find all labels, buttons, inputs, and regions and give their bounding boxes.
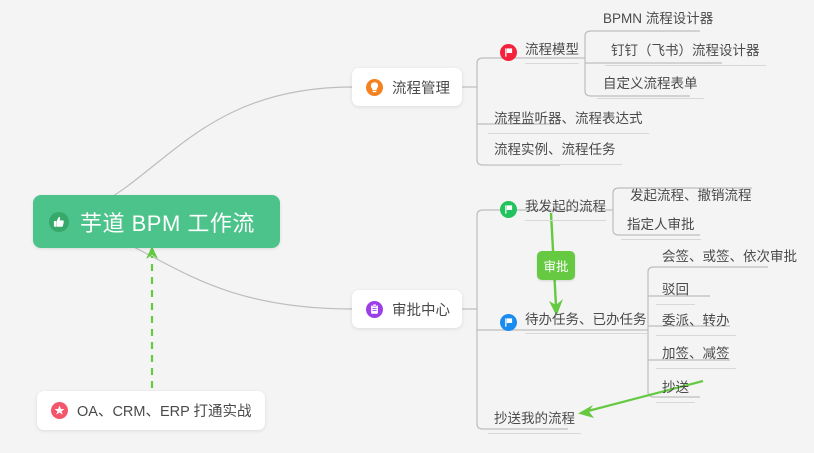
lightbulb-icon: [366, 79, 383, 96]
leaf-label: 流程模型: [525, 41, 579, 64]
leaf-process-model[interactable]: 流程模型: [494, 41, 585, 71]
leaf-label: 我发起的流程: [525, 198, 606, 221]
leaf-cc-to-me[interactable]: 抄送我的流程: [488, 410, 581, 434]
leaf-todo-done-tasks[interactable]: 待办任务、已办任务: [494, 311, 653, 341]
leaf-label: 发起流程、撤销流程: [630, 188, 752, 203]
leaf-label: 流程监听器、流程表达式: [494, 111, 643, 126]
thumbs-up-icon: [48, 211, 70, 233]
leaf-label: 加签、减签: [662, 346, 730, 361]
leaf-process-listener[interactable]: 流程监听器、流程表达式: [488, 110, 649, 134]
leaf-dingtalk-designer[interactable]: 钉钉（飞书）流程设计器: [605, 42, 766, 66]
root-node[interactable]: 芋道 BPM 工作流: [33, 195, 280, 248]
branch-node-process-management[interactable]: 流程管理: [352, 68, 462, 106]
clipboard-icon: [366, 301, 383, 318]
leaf-reject[interactable]: 驳回: [656, 281, 695, 305]
floating-note-label: OA、CRM、ERP 打通实战: [77, 400, 252, 421]
leaf-my-initiated[interactable]: 我发起的流程: [494, 198, 612, 228]
leaf-carbon-copy[interactable]: 抄送: [656, 379, 695, 403]
leaf-process-instance[interactable]: 流程实例、流程任务: [488, 141, 622, 165]
leaf-label: 流程实例、流程任务: [494, 142, 616, 157]
approve-pill[interactable]: 审批: [537, 251, 575, 280]
flag-icon: [500, 314, 517, 331]
leaf-label: 驳回: [662, 282, 689, 297]
leaf-label: 钉钉（飞书）流程设计器: [611, 43, 760, 58]
leaf-assignee-approval[interactable]: 指定人审批: [621, 216, 701, 240]
flag-icon: [500, 44, 517, 61]
leaf-start-cancel-process[interactable]: 发起流程、撤销流程: [624, 187, 758, 210]
floating-note-node[interactable]: OA、CRM、ERP 打通实战: [37, 391, 265, 430]
branch-label: 审批中心: [392, 299, 450, 320]
leaf-bpmn-designer[interactable]: BPMN 流程设计器: [597, 10, 719, 33]
mindmap-canvas: 芋道 BPM 工作流 流程管理 审批中心: [0, 0, 814, 453]
leaf-label: 自定义流程表单: [603, 76, 698, 91]
dashed-link-oa-root: [146, 246, 158, 388]
leaf-delegate-transfer[interactable]: 委派、转办: [656, 312, 736, 336]
leaf-label: 会签、或签、依次审批: [662, 249, 797, 264]
leaf-label: 委派、转办: [662, 313, 730, 328]
approve-pill-label: 审批: [543, 256, 568, 275]
leaf-label: BPMN 流程设计器: [603, 11, 713, 26]
star-icon: [51, 402, 68, 419]
flag-icon: [500, 201, 517, 218]
root-label: 芋道 BPM 工作流: [80, 206, 255, 238]
branch-node-approval-center[interactable]: 审批中心: [352, 290, 462, 328]
leaf-custom-form[interactable]: 自定义流程表单: [597, 75, 704, 99]
leaf-countersign[interactable]: 会签、或签、依次审批: [656, 248, 803, 271]
leaf-label: 待办任务、已办任务: [525, 311, 647, 334]
leaf-label: 指定人审批: [627, 217, 695, 232]
leaf-label: 抄送: [662, 380, 689, 395]
branch-label: 流程管理: [392, 77, 450, 98]
leaf-add-remove-sign[interactable]: 加签、减签: [656, 345, 736, 369]
leaf-label: 抄送我的流程: [494, 411, 575, 426]
